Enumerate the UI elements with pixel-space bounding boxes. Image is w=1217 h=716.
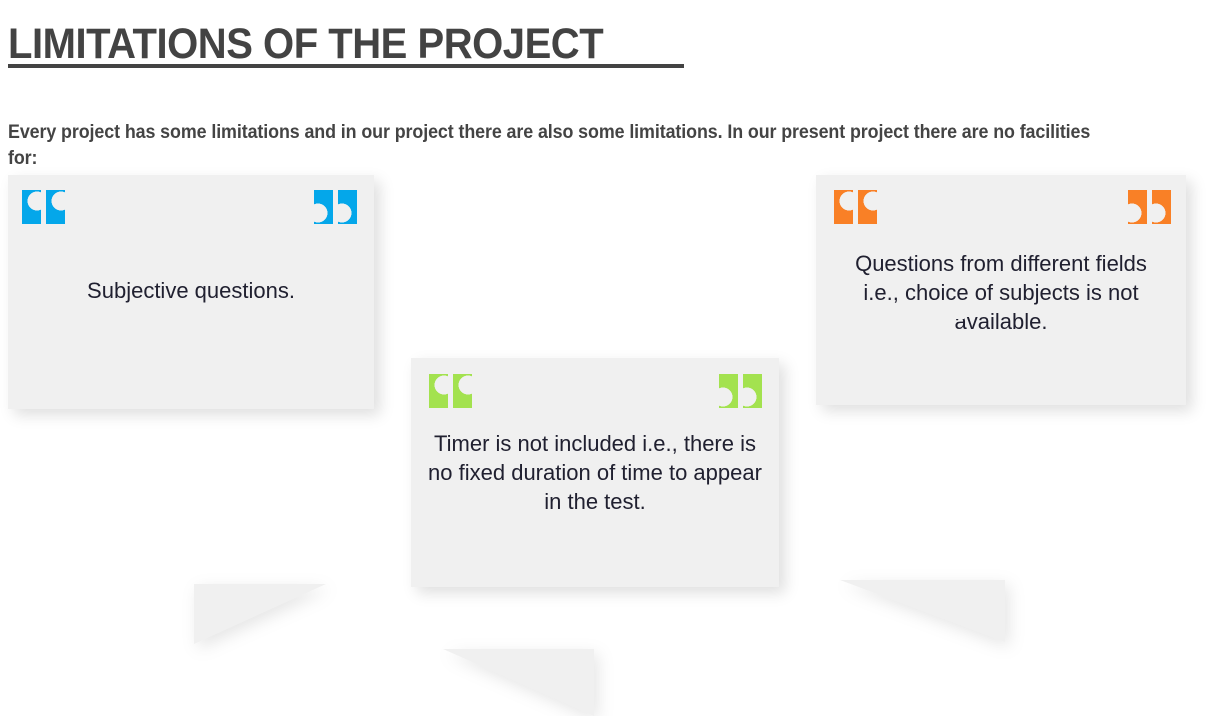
intro-paragraph: Every project has some limitations and i…: [8, 120, 1117, 172]
bubble-tail-bottom-right: [194, 584, 326, 644]
close-quote-icon: [719, 374, 763, 408]
bubble-text-timer: Timer is not included i.e., there is no …: [425, 429, 765, 516]
quote-bubble-timer: Timer is not included i.e., there is no …: [411, 358, 779, 587]
bubble-text-fields-line3: available.: [955, 307, 1048, 336]
title-underline-rule: [8, 64, 684, 68]
bubble-text-subjective: Subjective questions.: [28, 276, 354, 306]
bubble-text-fields-line1: Questions from different fields: [855, 251, 1147, 276]
quote-bubble-subjective: Subjective questions.: [8, 175, 374, 409]
bubble-text-fields: Questions from different fields i.e., ch…: [832, 249, 1170, 336]
close-quote-icon: [314, 190, 358, 224]
open-quote-icon: [22, 190, 66, 224]
open-quote-icon: [834, 190, 878, 224]
bubble-tail-bottom-left: [840, 580, 1005, 642]
quote-bubble-fields: Questions from different fields i.e., ch…: [816, 175, 1186, 405]
open-quote-icon: [429, 374, 473, 408]
bubble-tail-top-left: [443, 649, 594, 716]
bubble-text-fields-line2: i.e., choice of subjects is not: [863, 280, 1138, 305]
page-title: LIMITATIONS OF THE PROJECT: [8, 20, 603, 68]
close-quote-icon: [1128, 190, 1172, 224]
